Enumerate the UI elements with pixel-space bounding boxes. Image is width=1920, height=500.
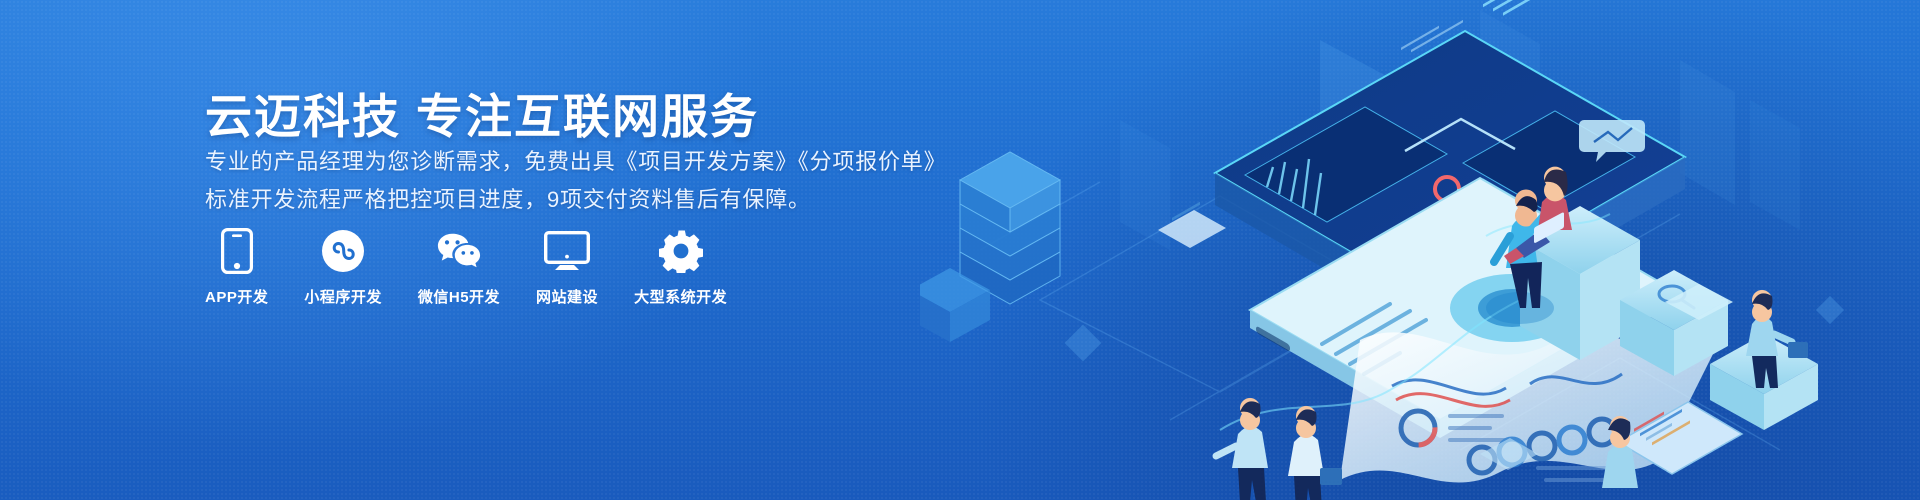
service-list: APP开发 小程序开发 [205, 228, 763, 307]
service-label: 大型系统开发 [634, 286, 727, 307]
monitor-icon [544, 228, 590, 274]
service-label: 小程序开发 [304, 286, 382, 307]
isometric-illustration [920, 0, 1920, 500]
wechat-icon [436, 228, 482, 274]
banner-subtitle-line2: 标准开发流程严格把控项目进度，9项交付资料售后有保障。 [205, 182, 811, 214]
banner-copy: 云迈科技 专注互联网服务 专业的产品经理为您诊断需求，免费出具《项目开发方案》《… [205, 0, 965, 500]
service-item-app[interactable]: APP开发 [205, 228, 268, 307]
banner-headline: 云迈科技 专注互联网服务 [205, 78, 759, 147]
mini-program-icon [320, 228, 366, 274]
service-label: 微信H5开发 [418, 286, 500, 307]
service-label: APP开发 [205, 286, 268, 307]
service-item-enterprise-system[interactable]: 大型系统开发 [634, 228, 727, 307]
service-label: 网站建设 [536, 286, 598, 307]
service-item-wechat-h5[interactable]: 微信H5开发 [418, 228, 500, 307]
gear-icon [658, 228, 704, 274]
service-item-mini-program[interactable]: 小程序开发 [304, 228, 382, 307]
banner-subtitle-line1: 专业的产品经理为您诊断需求，免费出具《项目开发方案》《分项报价单》 [205, 144, 946, 176]
hero-banner: 云迈科技 专注互联网服务 专业的产品经理为您诊断需求，免费出具《项目开发方案》《… [0, 0, 1920, 500]
mobile-phone-icon [214, 228, 260, 274]
service-item-website[interactable]: 网站建设 [536, 228, 598, 307]
